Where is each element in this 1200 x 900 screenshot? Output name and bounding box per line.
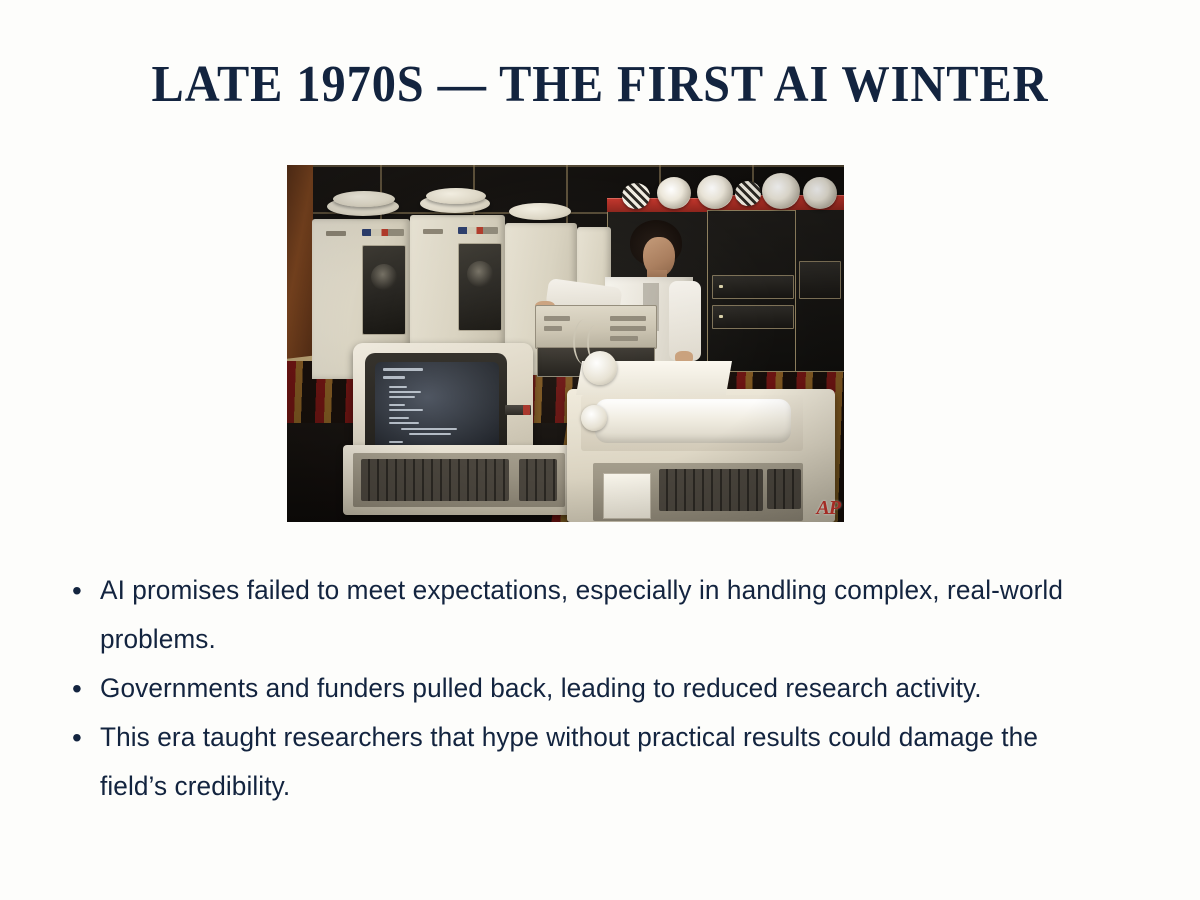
list-item: • AI promises failed to meet expectation… — [66, 566, 1106, 664]
crt-screen — [375, 362, 499, 450]
paper-spindle — [583, 351, 617, 385]
keyboard-main-keys — [361, 459, 509, 501]
cabinet-tape-window — [458, 243, 502, 331]
crt-text-line — [383, 376, 405, 379]
crt-text-line — [389, 417, 409, 419]
rack-panel — [799, 261, 841, 299]
crt-text-line — [389, 441, 403, 443]
crt-text-line — [389, 396, 415, 398]
tape-reel-striped — [735, 181, 761, 206]
cabinet-indicator-lights — [362, 229, 404, 236]
console-button — [610, 316, 646, 321]
rack-drive-2 — [712, 275, 794, 299]
rack-drive-3 — [712, 305, 794, 329]
console-button — [544, 316, 570, 321]
slide-photo: AP — [287, 165, 844, 522]
crt-text-line — [389, 404, 405, 406]
bullet-dot-icon: • — [66, 713, 100, 762]
bullet-dot-icon: • — [66, 664, 100, 713]
paper-feed-knob — [581, 405, 607, 431]
slide-canvas: LATE 1970S — THE FIRST AI WINTER — [0, 0, 1200, 900]
rack-led — [719, 285, 723, 288]
printed-note-card-top — [603, 473, 651, 519]
list-item: • Governments and funders pulled back, l… — [66, 664, 1106, 713]
tape-reel — [762, 173, 800, 209]
ap-watermark: AP — [816, 497, 840, 520]
crt-text-line — [409, 433, 451, 435]
crt-text-line — [389, 386, 407, 388]
crt-text-line — [389, 391, 421, 393]
cabinet-tape-window — [362, 245, 406, 335]
cabinet-label — [423, 229, 443, 234]
crt-brand-accent — [523, 405, 530, 415]
bullet-text: This era taught researchers that hype wi… — [100, 713, 1076, 811]
console-button — [544, 326, 562, 331]
page-title: LATE 1970S — THE FIRST AI WINTER — [42, 55, 1158, 115]
bullet-list: • AI promises failed to meet expectation… — [66, 566, 1106, 811]
tape-reel — [697, 175, 733, 209]
tape-reel-cover-3 — [509, 203, 571, 220]
tape-reel — [657, 177, 691, 209]
terminal-keyboard — [343, 445, 575, 515]
bullet-dot-icon: • — [66, 566, 100, 615]
rack-led — [719, 315, 723, 318]
photo-scene: AP — [287, 165, 844, 522]
crt-text-line — [389, 409, 423, 411]
list-item: • This era taught researchers that hype … — [66, 713, 1106, 811]
paper-roll — [595, 399, 791, 443]
tape-reel-cover-2b — [426, 188, 486, 204]
crt-text-line — [401, 428, 457, 430]
line-printer — [567, 389, 835, 522]
printer-keyboard-keys — [659, 469, 763, 511]
console-button — [610, 336, 638, 341]
tape-reel-striped — [622, 183, 650, 209]
printer-numpad-keys — [767, 469, 801, 509]
keyboard-numpad-keys — [519, 459, 557, 501]
crt-text-line — [389, 422, 419, 424]
tape-reel — [803, 177, 837, 209]
cabinet-indicator-lights — [458, 227, 498, 234]
bullet-text: Governments and funders pulled back, lea… — [100, 664, 1076, 713]
console-button — [610, 326, 646, 331]
bullet-text: AI promises failed to meet expectations,… — [100, 566, 1076, 664]
cabinet-label — [326, 231, 346, 236]
tape-reel-cover-1b — [333, 191, 395, 207]
crt-text-line — [383, 368, 423, 371]
technician-arm-right — [669, 281, 701, 361]
